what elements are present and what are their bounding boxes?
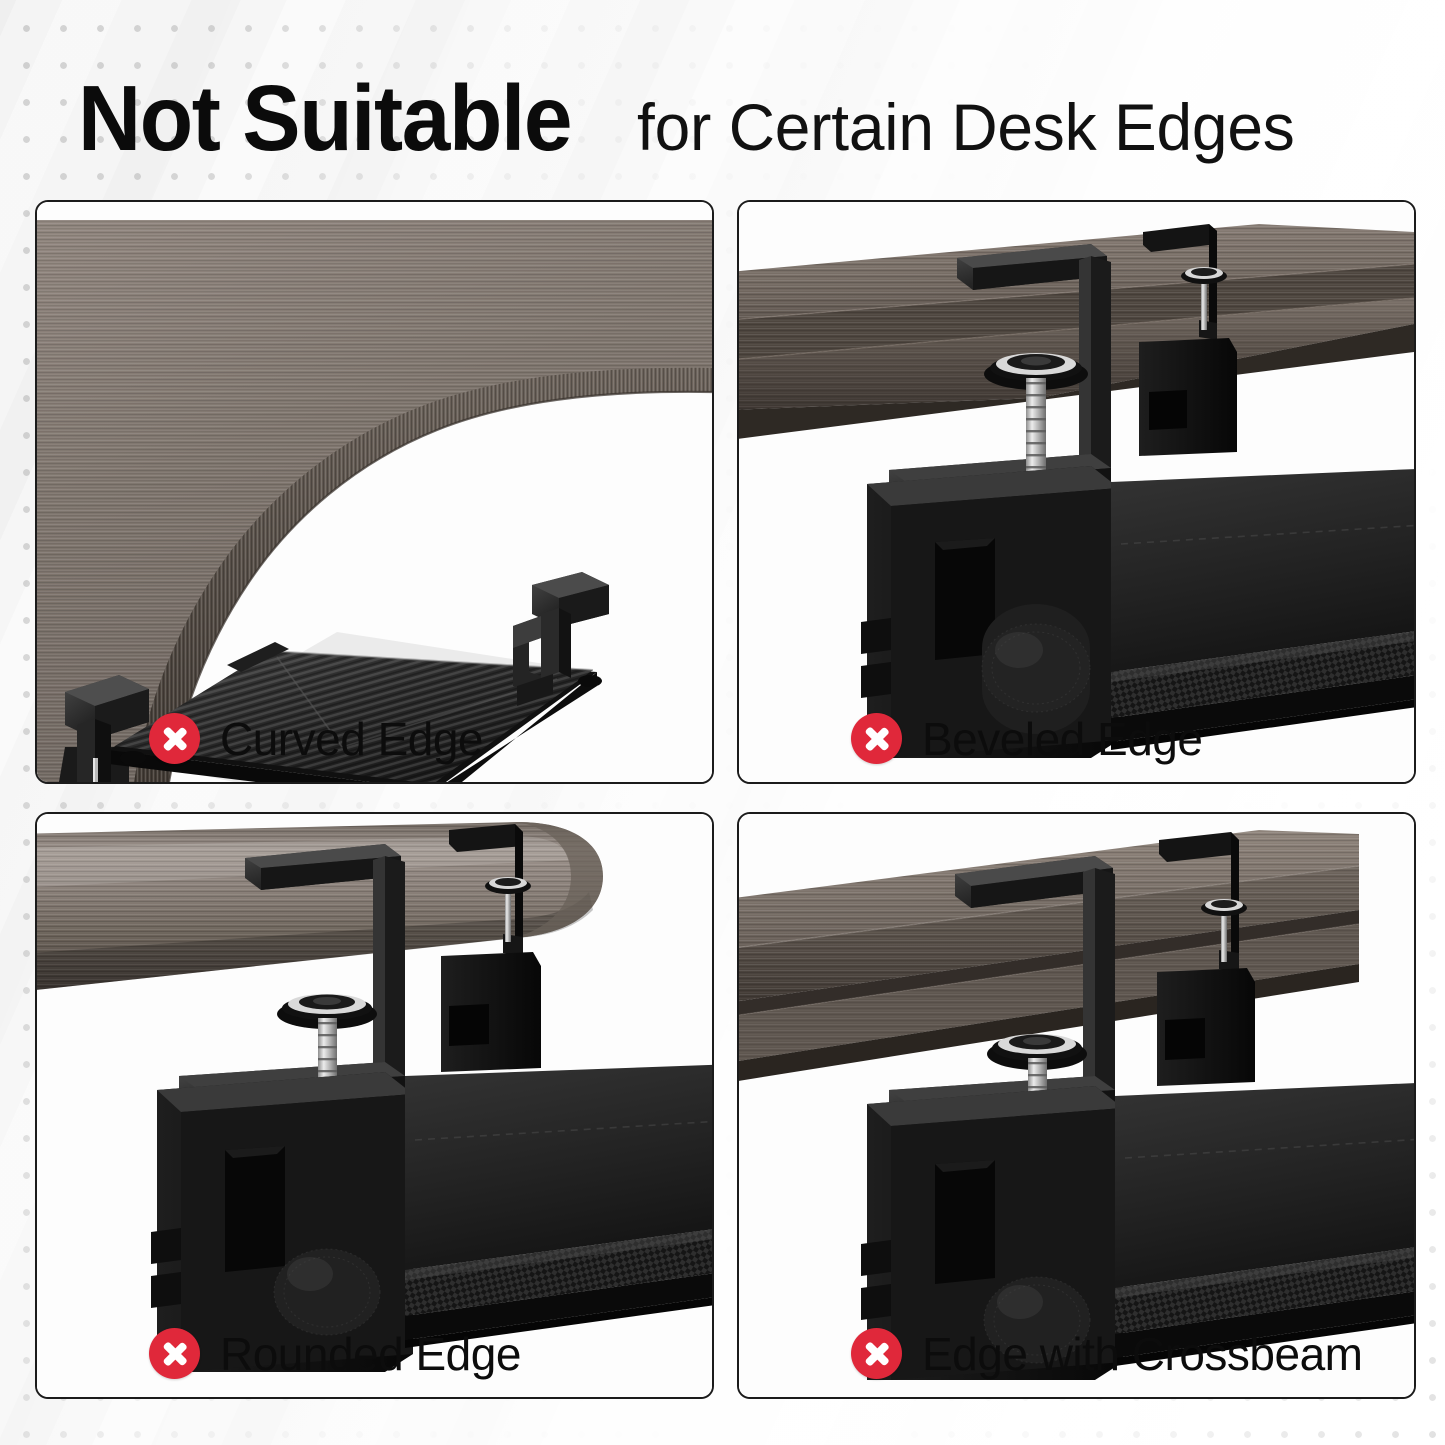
rounded-edge-illustration (37, 814, 712, 1397)
scene-rounded-edge (37, 814, 712, 1397)
panel-curved-edge: Curved Edge (35, 200, 714, 784)
infographic-root: Not Suitable for Certain Desk Edges (0, 0, 1445, 1445)
keyboard-tray (1115, 1082, 1414, 1366)
headline-light: for Certain Desk Edges (637, 94, 1295, 160)
headline-strong: Not Suitable (78, 72, 571, 165)
keyboard-tray (405, 1064, 712, 1348)
panel-beveled-edge: Beveled Edge (737, 200, 1416, 784)
scene-curved-edge (37, 202, 712, 782)
scene-crossbeam-edge (739, 814, 1414, 1397)
keyboard-tray (1111, 468, 1414, 750)
panel-rounded-edge: Rounded Edge (35, 812, 714, 1399)
panel-crossbeam-edge: Edge with Crossbeam (737, 812, 1416, 1399)
scene-beveled-edge (739, 202, 1414, 782)
page-title: Not Suitable for Certain Desk Edges (78, 72, 1408, 176)
crossbeam-edge-illustration (739, 814, 1414, 1397)
beveled-edge-illustration (739, 202, 1414, 782)
curved-edge-illustration (37, 202, 712, 782)
